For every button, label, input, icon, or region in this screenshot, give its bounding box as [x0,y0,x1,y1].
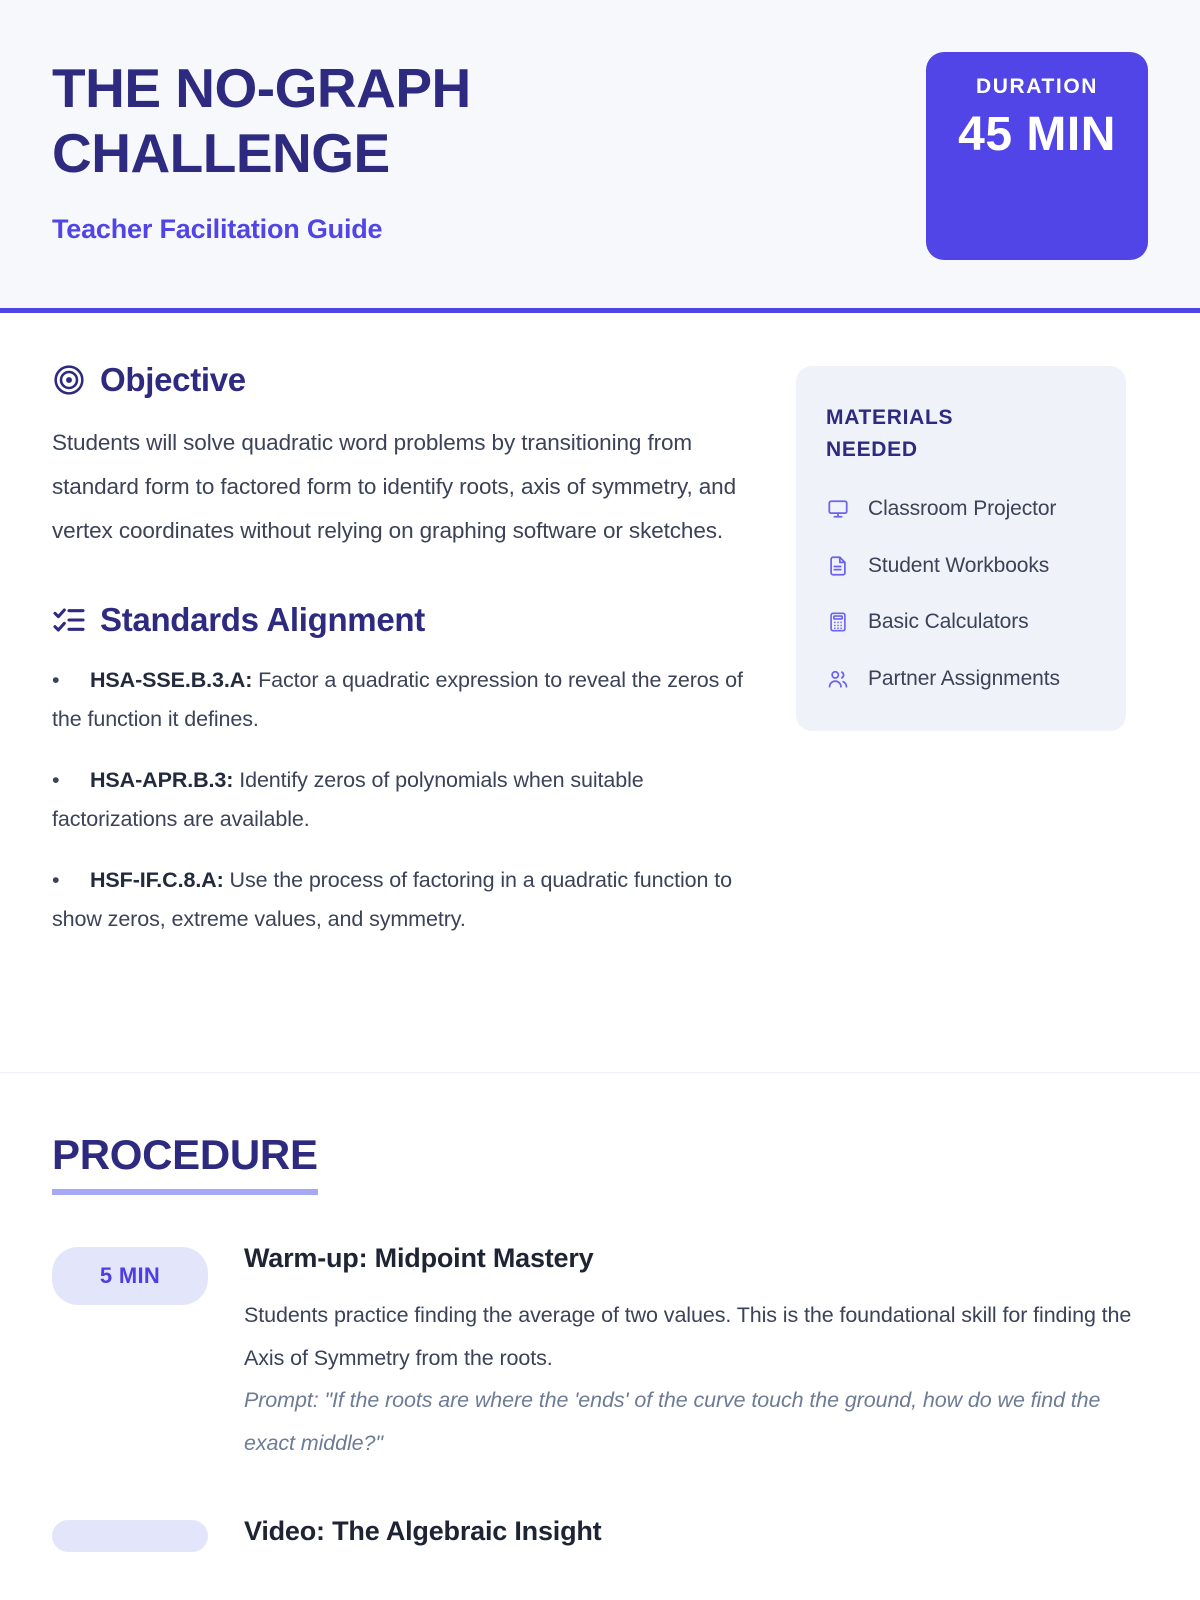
standard-code: HSF-IF.C.8.A: [90,868,224,892]
duration-badge: DURATION 45 MIN [926,52,1148,260]
step-heading: Video: The Algebraic Insight [244,1516,1148,1547]
duration-value: 45 MIN [958,107,1116,164]
material-label: Basic Calculators [868,606,1029,639]
procedure-list: 5 MIN Warm-up: Midpoint Mastery Students… [52,1243,1148,1567]
standards-heading: Standards Alignment [52,601,764,639]
step-description-text: Students practice finding the average of… [244,1303,1131,1370]
standard-item: •HSF-IF.C.8.A: Use the process of factor… [52,861,764,939]
objective-text: Students will solve quadratic word probl… [52,421,764,553]
material-item: Classroom Projector [826,493,1096,526]
standard-item: •HSA-APR.B.3: Identify zeros of polynomi… [52,761,764,839]
material-item: Basic Calculators [826,606,1096,639]
standards-heading-label: Standards Alignment [100,601,425,639]
step-time-badge [52,1520,208,1552]
objective-heading-label: Objective [100,361,246,399]
document-icon [826,554,850,578]
bullet-marker: • [52,861,90,900]
standard-code: HSA-APR.B.3: [90,768,233,792]
procedure-title: PROCEDURE [52,1131,318,1195]
page-subtitle: Teacher Facilitation Guide [52,214,612,245]
duration-label: DURATION [976,76,1098,97]
calculator-icon [826,610,850,634]
lesson-plan-page: THE NO-GRAPH CHALLENGE Teacher Facilitat… [0,0,1200,1600]
header-title-group: THE NO-GRAPH CHALLENGE Teacher Facilitat… [52,52,612,245]
material-label: Partner Assignments [868,663,1060,696]
standards-block: Standards Alignment •HSA-SSE.B.3.A: Fact… [52,601,764,940]
procedure-step: 5 MIN Warm-up: Midpoint Mastery Students… [52,1243,1148,1464]
procedure-section: PROCEDURE 5 MIN Warm-up: Midpoint Master… [0,1073,1200,1567]
page-title: THE NO-GRAPH CHALLENGE [52,56,612,186]
standard-item: •HSA-SSE.B.3.A: Factor a quadratic expre… [52,661,764,739]
step-body: Warm-up: Midpoint Mastery Students pract… [244,1243,1148,1464]
checklist-icon [52,603,86,637]
material-item: Student Workbooks [826,550,1096,583]
users-icon [826,667,850,691]
step-prompt: Prompt: "If the roots are where the 'end… [244,1379,1148,1464]
page-header: THE NO-GRAPH CHALLENGE Teacher Facilitat… [0,0,1200,313]
procedure-step: Video: The Algebraic Insight [52,1516,1148,1567]
materials-title: MATERIALS NEEDED [826,402,1016,465]
step-description: Students practice finding the average of… [244,1294,1148,1464]
materials-card: MATERIALS NEEDED Classroom Projector [796,366,1126,731]
step-heading: Warm-up: Midpoint Mastery [244,1243,1148,1274]
step-body: Video: The Algebraic Insight [244,1516,1148,1567]
material-label: Classroom Projector [868,493,1056,526]
objective-heading: Objective [52,361,764,399]
step-time-badge: 5 MIN [52,1247,208,1305]
bullet-marker: • [52,761,90,800]
materials-column: MATERIALS NEEDED Classroom Projector [796,361,1126,1036]
overview-section: Objective Students will solve quadratic … [0,313,1200,1073]
overview-main-column: Objective Students will solve quadratic … [52,361,764,1036]
standard-code: HSA-SSE.B.3.A: [90,668,252,692]
materials-list: Classroom Projector Student Workbooks [826,493,1096,695]
monitor-icon [826,497,850,521]
bullet-marker: • [52,661,90,700]
target-icon [52,363,86,397]
material-label: Student Workbooks [868,550,1049,583]
material-item: Partner Assignments [826,663,1096,696]
